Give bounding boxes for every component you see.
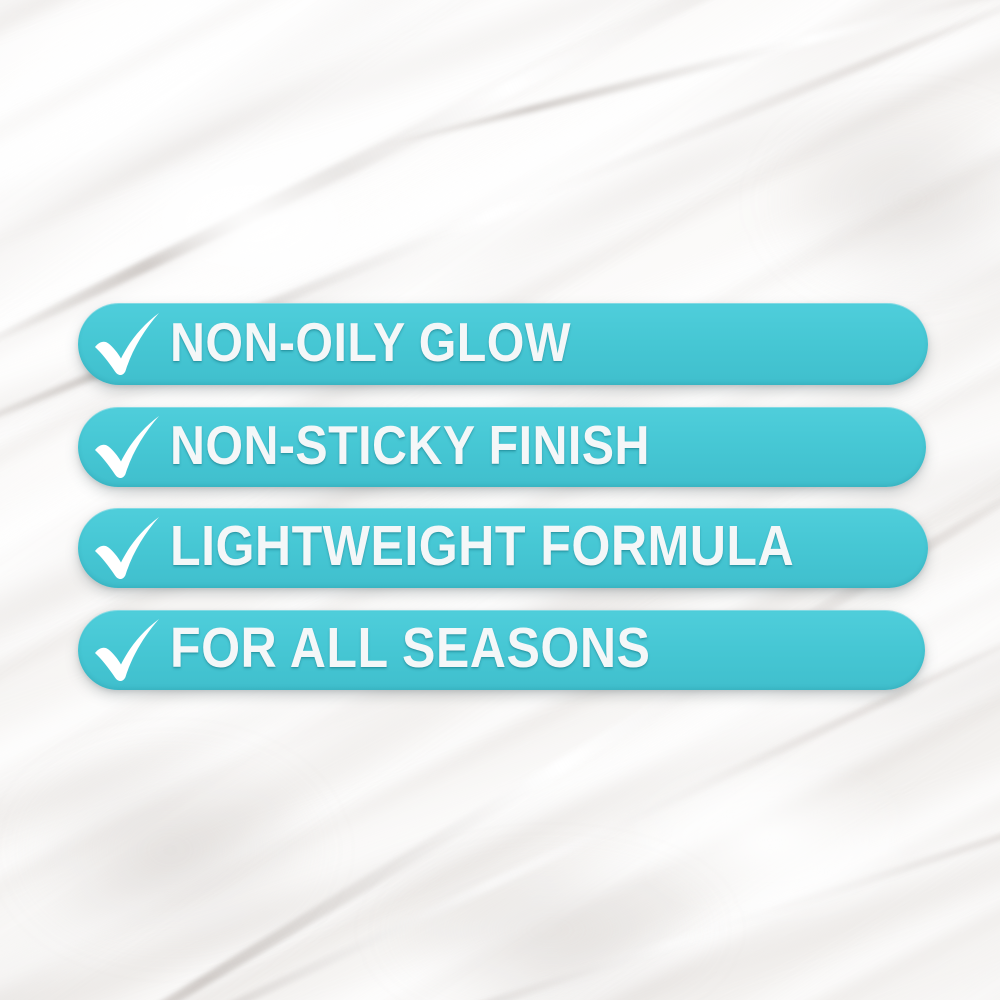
benefit-label: NON-OILY GLOW <box>170 315 571 373</box>
benefit-item-non-sticky-finish[interactable]: NON-STICKY FINISH <box>78 407 926 487</box>
check-icon <box>84 407 170 487</box>
benefit-label: FOR ALL SEASONS <box>170 620 650 680</box>
check-icon <box>84 508 170 588</box>
product-benefits-graphic: NON-OILY GLOW NON-STICKY FINISH LIGHTWEI… <box>0 0 1000 1000</box>
benefit-label: LIGHTWEIGHT FORMULA <box>170 518 794 578</box>
benefit-label: NON-STICKY FINISH <box>170 418 650 476</box>
benefit-item-lightweight-formula[interactable]: LIGHTWEIGHT FORMULA <box>78 508 928 588</box>
check-icon <box>84 303 170 385</box>
benefit-item-for-all-seasons[interactable]: FOR ALL SEASONS <box>78 610 925 690</box>
benefit-item-non-oily-glow[interactable]: NON-OILY GLOW <box>78 303 928 385</box>
check-icon <box>84 610 170 690</box>
benefits-list: NON-OILY GLOW NON-STICKY FINISH LIGHTWEI… <box>0 0 1000 1000</box>
